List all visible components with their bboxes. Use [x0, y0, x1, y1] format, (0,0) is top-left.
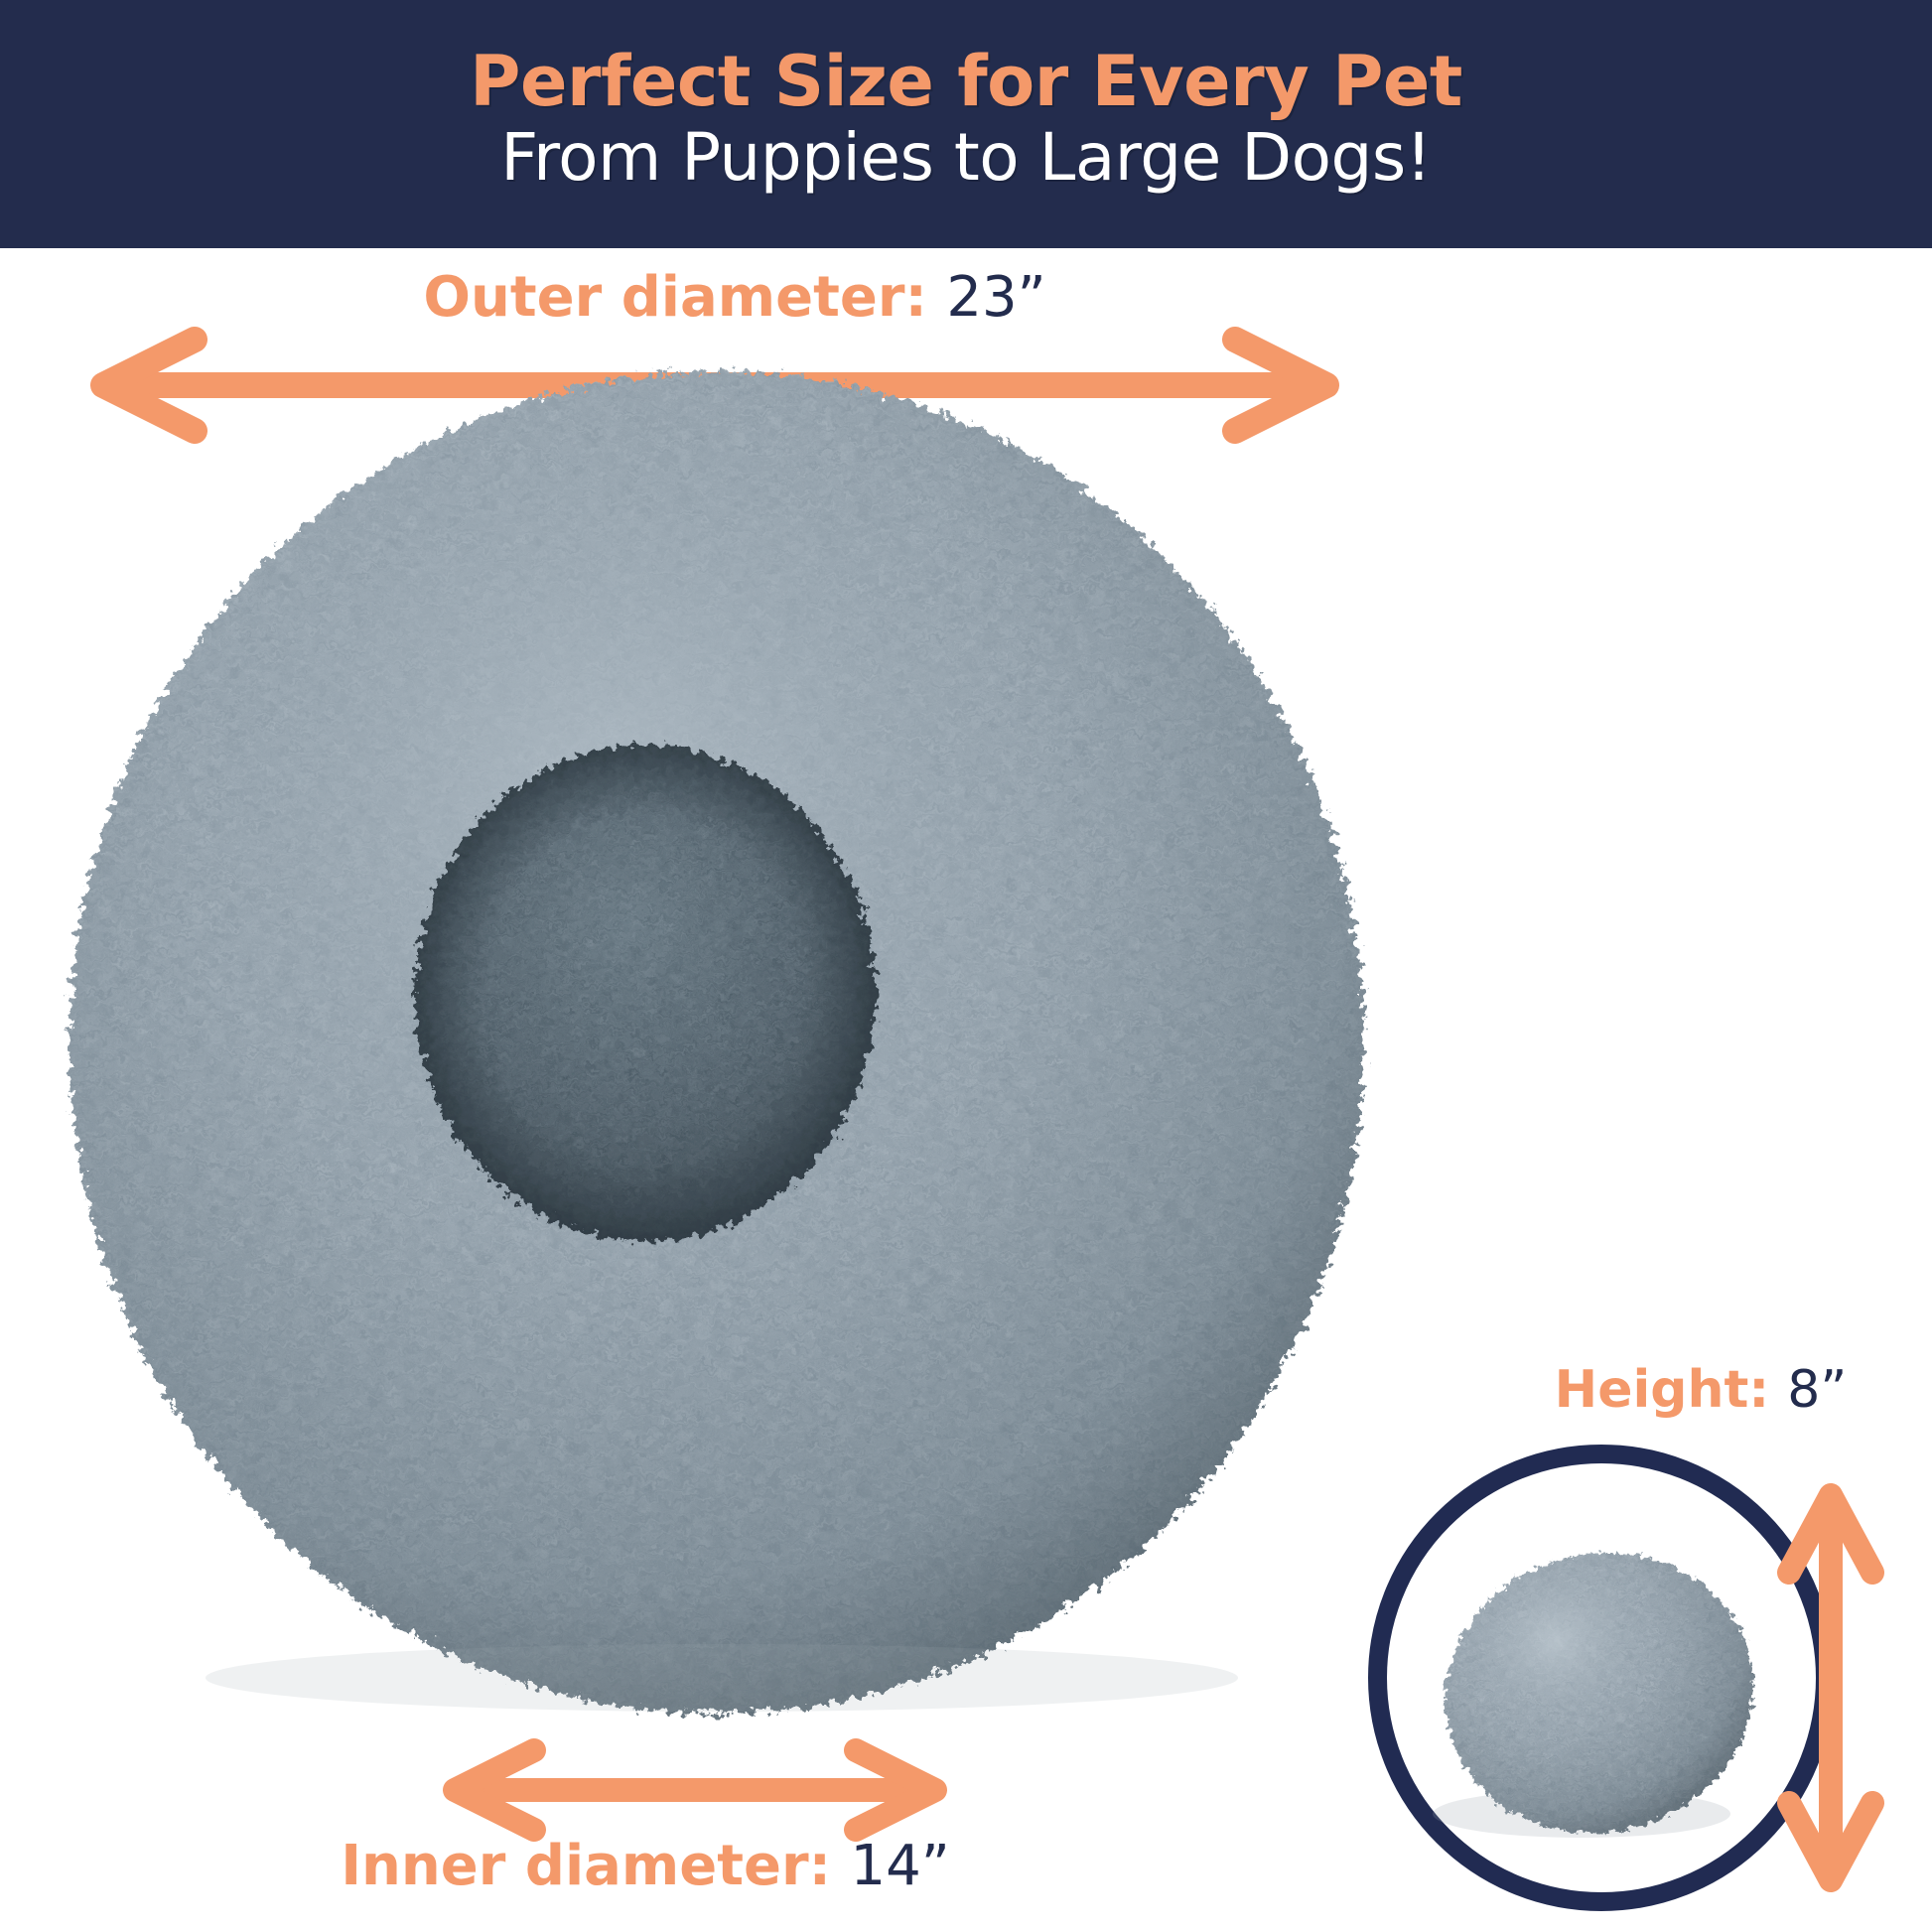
- inner-diameter-label: Inner diameter: 14”: [298, 1839, 993, 1894]
- pet-bed-top-view: [62, 357, 1382, 1727]
- pet-bed-side-view: [1368, 1445, 1835, 1911]
- arrow-right-icon: [856, 1750, 935, 1830]
- header-banner: Perfect Size for Every Pet From Puppies …: [0, 0, 1932, 248]
- outer-diameter-value: 23”: [946, 265, 1045, 330]
- height-label-text: Height:: [1555, 1360, 1770, 1420]
- infographic-canvas: Perfect Size for Every Pet From Puppies …: [0, 0, 1932, 1932]
- inner-diameter-value: 14”: [851, 1834, 950, 1898]
- header-subtitle: From Puppies to Large Dogs!: [500, 122, 1431, 195]
- outer-diameter-label-text: Outer diameter:: [423, 265, 927, 330]
- height-inset-callout: [1368, 1445, 1835, 1911]
- bed-contact-shadow: [206, 1644, 1238, 1712]
- arrow-left-icon: [455, 1750, 534, 1830]
- inner-diameter-arrow: [377, 1742, 1013, 1842]
- bed-outer-bolster: [62, 357, 1382, 1727]
- bed-inner-well: [389, 725, 905, 1281]
- header-title: Perfect Size for Every Pet: [470, 46, 1462, 119]
- height-label: Height: 8”: [1469, 1364, 1932, 1416]
- outer-diameter-label: Outer diameter: 23”: [0, 270, 1469, 326]
- height-value: 8”: [1787, 1360, 1847, 1420]
- inner-diameter-label-text: Inner diameter:: [341, 1834, 831, 1898]
